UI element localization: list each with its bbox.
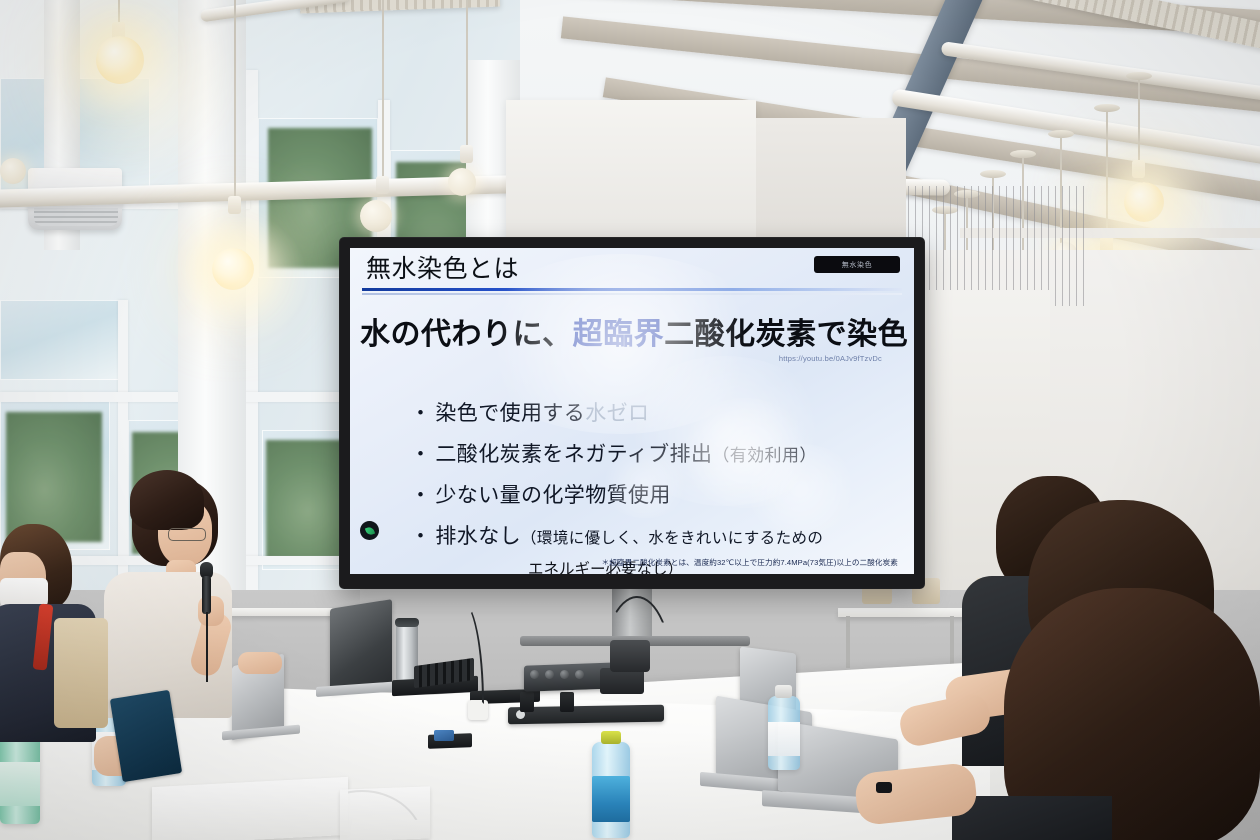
bullet-item: ・二酸化炭素をネガティブ排出（有効利用） <box>410 438 904 468</box>
leaf-icon <box>360 521 379 540</box>
glasses-icon <box>168 528 206 541</box>
slide-headline: 水の代わりに、超臨界二酸化炭素で染色 <box>360 309 904 353</box>
presenter-hand-right <box>238 652 282 674</box>
audio-knob[interactable] <box>530 670 539 679</box>
light-canopy <box>1010 150 1036 158</box>
slide-footnote: ＊超臨界二酸化炭素とは、温度約32℃以上で圧力約7.4MPa(73気圧)以上の二… <box>350 557 898 568</box>
light-socket <box>228 196 241 214</box>
light-canopy <box>1126 72 1152 80</box>
headline-part-2: 二酸化炭素で染色 <box>664 318 908 351</box>
bullet-text: 排水なし <box>435 525 521 548</box>
headline-highlight: 超臨界 <box>573 318 665 351</box>
foliage <box>6 412 102 542</box>
window-pane <box>0 300 120 380</box>
bullet-text: 染色で使用する <box>435 402 585 425</box>
drink-bottle[interactable] <box>768 696 800 770</box>
pendant-light <box>1124 182 1164 222</box>
table-leg <box>950 616 954 668</box>
window-mullion <box>118 300 128 600</box>
light-socket <box>1132 160 1145 178</box>
wristwatch <box>876 782 892 793</box>
light-canopy <box>1048 130 1074 138</box>
light-cord <box>1106 110 1108 240</box>
drink-bottle[interactable] <box>0 728 40 824</box>
bottle-label <box>0 762 40 806</box>
bullet-item: ・排水なし（環境に優しく、水をきれいにするための <box>410 520 904 550</box>
display-screen: 無水染色 無水染色とは 水の代わりに、超臨界二酸化炭素で染色 https://y… <box>350 248 914 574</box>
photo-scene: 無水染色 無水染色とは 水の代わりに、超臨界二酸化炭素で染色 https://y… <box>0 0 1260 840</box>
cardboard-box <box>340 786 430 840</box>
bottle-label <box>592 776 630 822</box>
bullet-marker: ・ <box>410 402 431 425</box>
smartphone[interactable] <box>110 690 182 782</box>
light-socket <box>376 176 389 194</box>
pendant-light <box>448 168 476 196</box>
headline-source-url: https://youtu.be/0AJv9fTzvDc <box>360 354 882 363</box>
small-blue-device[interactable] <box>434 730 454 741</box>
title-underline <box>362 288 902 291</box>
cardboard-box <box>152 777 348 840</box>
bottle-cap <box>601 731 621 744</box>
presenter-hair-top <box>130 470 204 530</box>
pendant-light <box>360 200 392 232</box>
light-cord <box>466 0 468 148</box>
chair <box>54 618 108 728</box>
light-cord <box>382 0 384 180</box>
light-canopy <box>1094 104 1120 112</box>
attendee-shirt <box>952 796 1112 840</box>
presentation-slide: 無水染色 無水染色とは 水の代わりに、超臨界二酸化炭素で染色 https://y… <box>350 248 914 574</box>
bullet-note: （環境に優しく、水をきれいにするための <box>521 530 823 547</box>
audio-knob[interactable] <box>545 670 554 679</box>
light-canopy <box>980 170 1006 178</box>
light-cord <box>1138 78 1140 164</box>
bullet-marker: ・ <box>410 484 431 507</box>
microphone-cable <box>206 612 208 682</box>
bullet-paren: （有効利用） <box>712 446 816 465</box>
title-underline-secondary <box>362 293 902 295</box>
table-leg <box>846 616 850 668</box>
light-socket <box>460 145 473 163</box>
bottle-cap <box>775 685 792 698</box>
slide-badge: 無水染色 <box>814 256 900 273</box>
drink-bottle[interactable] <box>592 742 630 838</box>
power-plug <box>560 692 574 712</box>
power-plug <box>520 692 534 712</box>
microphone-body[interactable] <box>202 576 211 614</box>
bullet-marker: ・ <box>410 443 431 466</box>
laptop-lid[interactable] <box>330 599 392 693</box>
headline-part-1: 水の代わりに、 <box>360 318 573 351</box>
pendant-light <box>0 158 26 184</box>
light-cord <box>234 0 236 200</box>
pendant-light <box>212 248 254 290</box>
bottle-label <box>768 722 800 756</box>
pendant-light <box>96 36 144 84</box>
bullet-text: 二酸化炭素をネガティブ排出 <box>435 443 712 466</box>
bullet-text: 少ない量の化学物質使用 <box>435 484 670 507</box>
bullet-item: ・染色で使用する水ゼロ <box>410 397 904 427</box>
display-monitor[interactable]: 無水染色 無水染色とは 水の代わりに、超臨界二酸化炭素で染色 https://y… <box>340 238 924 588</box>
bullet-text-faded: 水ゼロ <box>585 402 649 425</box>
bullet-item: ・少ない量の化学物質使用 <box>410 479 904 509</box>
thermos-cap[interactable] <box>395 618 419 627</box>
bullet-marker: ・ <box>410 525 431 548</box>
slide-badge-label: 無水染色 <box>842 260 872 270</box>
audio-knob[interactable] <box>560 670 569 679</box>
audio-knob[interactable] <box>575 670 584 679</box>
slide-bullets: ・染色で使用する水ゼロ ・二酸化炭素をネガティブ排出（有効利用） ・少ない量の化… <box>410 397 904 575</box>
